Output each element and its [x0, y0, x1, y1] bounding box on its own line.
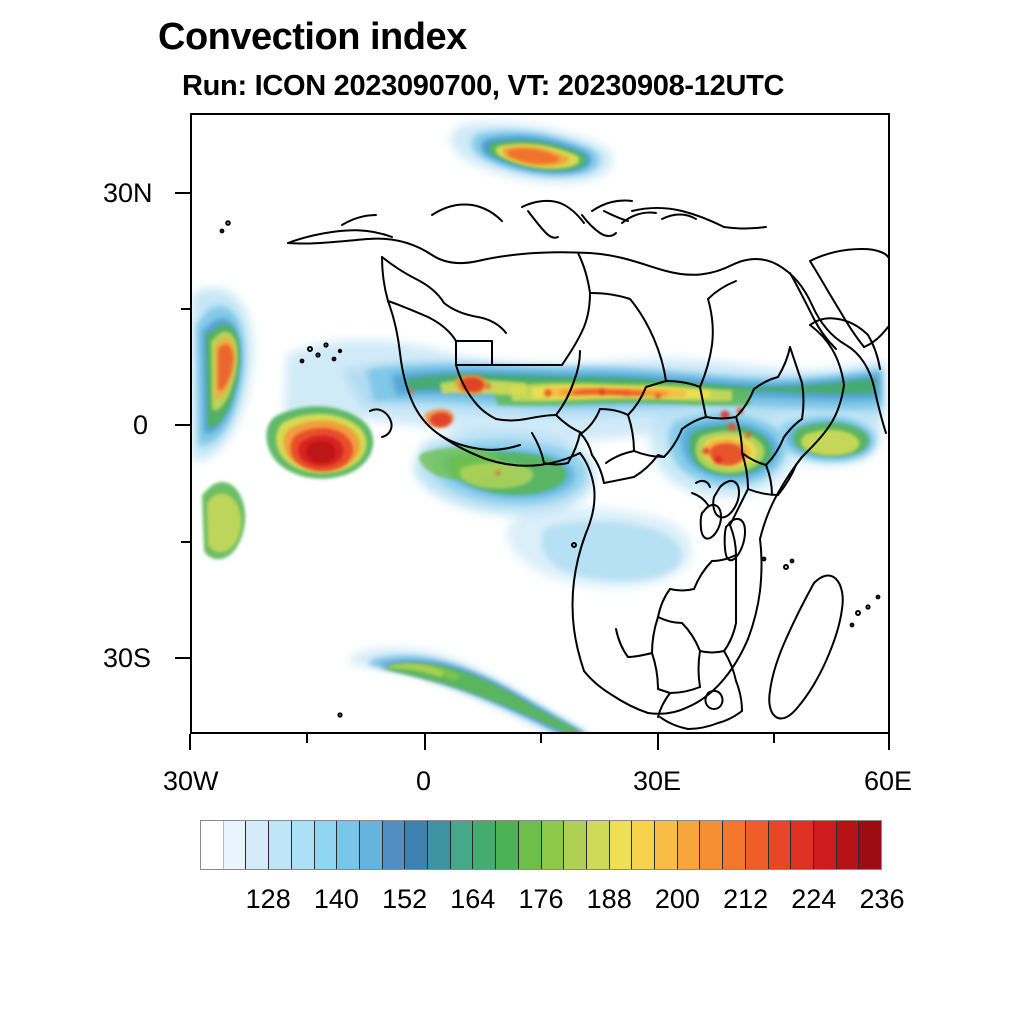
colorbar-cell: [769, 821, 792, 869]
colorbar-cell: [473, 821, 496, 869]
figure-canvas: Convection index Run: ICON 2023090700, V…: [0, 0, 1024, 1024]
convection-field: [192, 123, 888, 732]
colorbar-cell: [723, 821, 746, 869]
map-svg: [192, 115, 888, 732]
colorbar-cell: [859, 821, 881, 869]
colorbar-cell: [700, 821, 723, 869]
colorbar-cell: [337, 821, 360, 869]
x-axis-label-30e: 30E: [633, 766, 681, 797]
page-subtitle: Run: ICON 2023090700, VT: 20230908-12UTC: [182, 70, 784, 103]
x-axis-label-60e: 60E: [864, 766, 912, 797]
x-tick-30e: [657, 734, 659, 750]
x-axis-label-0: 0: [416, 766, 431, 797]
page-title: Convection index: [158, 16, 467, 59]
colorbar-cell: [269, 821, 292, 869]
y-tick-15s: [181, 541, 190, 543]
map-plot-area: [190, 113, 890, 734]
colorbar-tick-label: 176: [518, 884, 563, 915]
x-tick-15e: [540, 734, 542, 743]
colorbar-cell: [383, 821, 406, 869]
colorbar-cell: [315, 821, 338, 869]
y-tick-15n: [181, 308, 190, 310]
colorbar-cell: [587, 821, 610, 869]
colorbar-cell: [451, 821, 474, 869]
colorbar-tick-label: 224: [791, 884, 836, 915]
colorbar-tick-label: 212: [723, 884, 768, 915]
colorbar-cell: [360, 821, 383, 869]
colorbar-cell: [542, 821, 565, 869]
x-tick-45e: [773, 734, 775, 743]
colorbar-cell: [837, 821, 860, 869]
x-tick-60e: [888, 734, 890, 750]
colorbar-cell: [201, 821, 224, 869]
colorbar-cell: [610, 821, 633, 869]
y-axis-label-30n: 30N: [103, 178, 153, 209]
colorbar-cell: [678, 821, 701, 869]
colorbar-cell: [632, 821, 655, 869]
colorbar-cell: [224, 821, 247, 869]
colorbar-cell: [496, 821, 519, 869]
colorbar-cell: [655, 821, 678, 869]
x-axis-label-30w: 30W: [163, 766, 219, 797]
y-tick-0: [175, 424, 190, 426]
y-axis-label-30s: 30S: [103, 643, 151, 674]
colorbar-cell: [246, 821, 269, 869]
x-tick-15w: [306, 734, 308, 743]
colorbar-tick-label: 140: [314, 884, 359, 915]
colorbar-tick-label: 152: [382, 884, 427, 915]
colorbar[interactable]: [200, 820, 882, 870]
y-axis-label-0: 0: [133, 410, 148, 441]
x-tick-30w: [189, 734, 191, 750]
colorbar-cell: [564, 821, 587, 869]
colorbar-cell: [292, 821, 315, 869]
colorbar-cell: [405, 821, 428, 869]
colorbar-cell: [428, 821, 451, 869]
colorbar-cell: [519, 821, 542, 869]
y-tick-30s: [175, 657, 190, 659]
colorbar-tick-label: 128: [246, 884, 291, 915]
colorbar-cell: [814, 821, 837, 869]
y-tick-30n: [175, 192, 190, 194]
x-tick-0: [424, 734, 426, 750]
colorbar-cell: [791, 821, 814, 869]
colorbar-tick-label: 164: [450, 884, 495, 915]
colorbar-tick-label: 236: [859, 884, 904, 915]
colorbar-tick-label: 200: [655, 884, 700, 915]
colorbar-tick-label: 188: [587, 884, 632, 915]
colorbar-cell: [746, 821, 769, 869]
